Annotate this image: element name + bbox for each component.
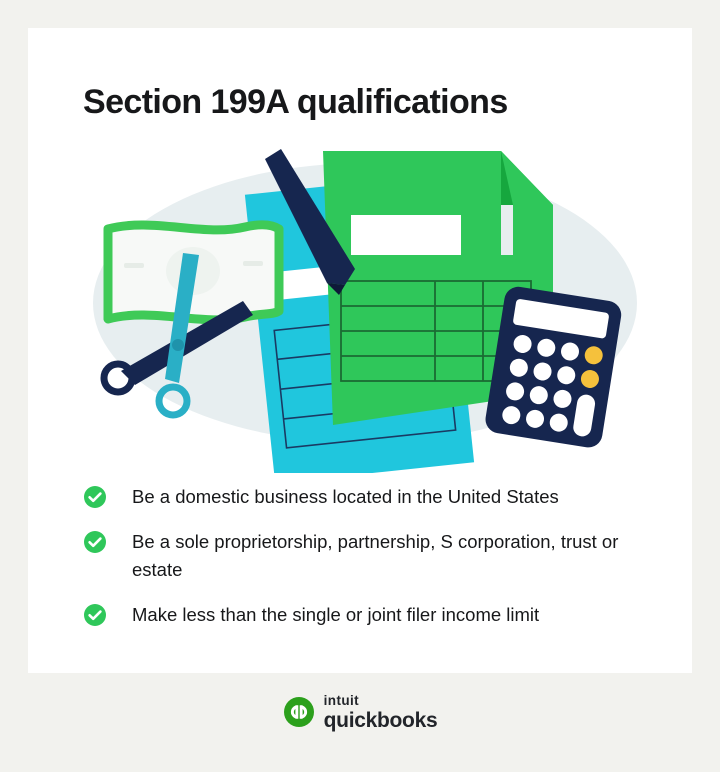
list-item-label: Make less than the single or joint filer… xyxy=(132,601,539,629)
check-circle-icon xyxy=(83,530,107,554)
list-item-label: Be a sole proprietorship, partnership, S… xyxy=(132,528,652,584)
content-card: Section 199A qualifications xyxy=(28,28,692,673)
infographic-page: Section 199A qualifications xyxy=(0,0,720,772)
brand-wordmark: intuit quickbooks xyxy=(324,694,438,731)
brand-footer: intuit quickbooks xyxy=(0,694,720,731)
check-circle-icon xyxy=(83,485,107,509)
brand-intuit-label: intuit xyxy=(324,694,438,708)
page-title: Section 199A qualifications xyxy=(83,83,508,122)
qualifications-list: Be a domestic business located in the Un… xyxy=(83,483,673,629)
list-item: Be a domestic business located in the Un… xyxy=(83,483,673,511)
list-item: Be a sole proprietorship, partnership, S… xyxy=(83,528,673,584)
list-item: Make less than the single or joint filer… xyxy=(83,601,673,629)
tax-forms-scissors-calculator-illustration xyxy=(83,133,643,473)
brand-quickbooks-label: quickbooks xyxy=(324,710,438,731)
list-item-label: Be a domestic business located in the Un… xyxy=(132,483,559,511)
quickbooks-logo-icon xyxy=(283,696,315,728)
check-circle-icon xyxy=(83,603,107,627)
calculator-icon xyxy=(484,285,624,450)
